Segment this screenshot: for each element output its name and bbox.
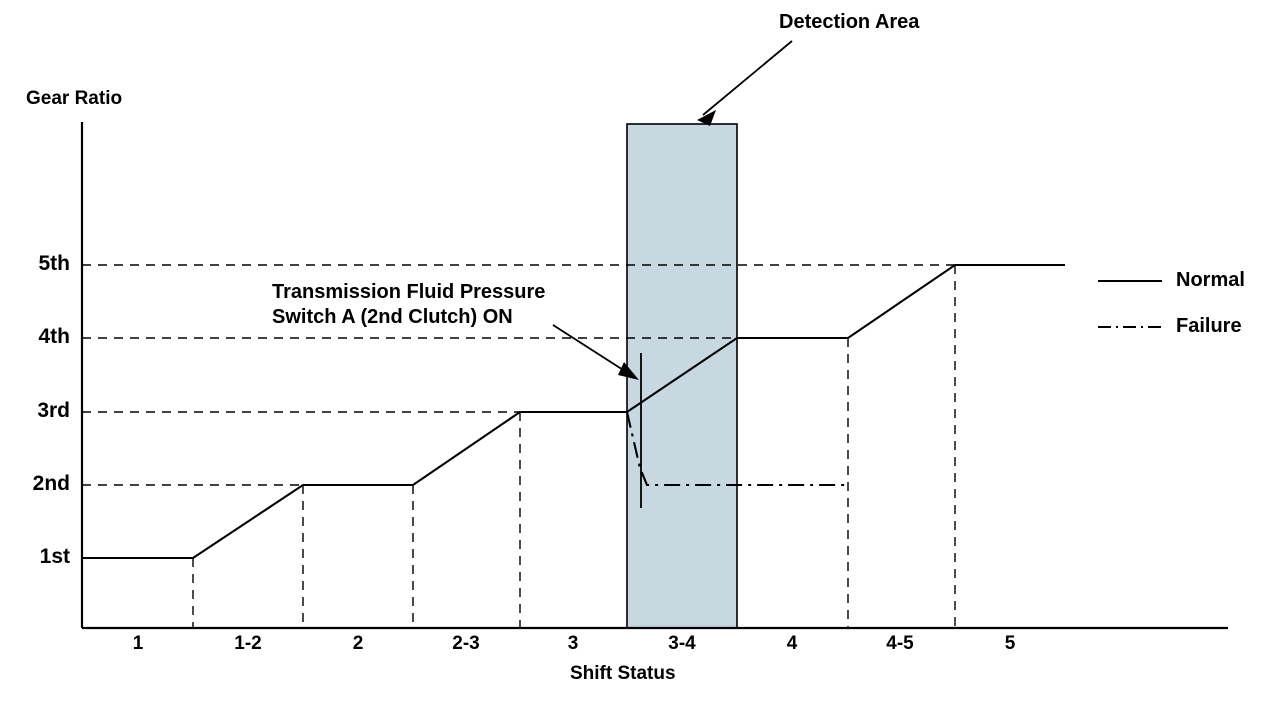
- pressure-switch-arrow: [553, 325, 639, 380]
- y-tick-4th: 4th: [0, 325, 70, 349]
- y-tick-2nd: 2nd: [0, 472, 70, 496]
- chart-canvas: [0, 0, 1272, 706]
- x-tick-1: 1: [98, 633, 178, 655]
- pressure-switch-label-line2: Switch A (2nd Clutch) ON: [272, 305, 513, 330]
- x-tick-3-4: 3-4: [642, 633, 722, 655]
- x-tick-3: 3: [533, 633, 613, 655]
- detection-area-label: Detection Area: [779, 10, 919, 35]
- y-axis-title: Gear Ratio: [26, 88, 122, 110]
- y-tick-5th: 5th: [0, 252, 70, 276]
- x-tick-1-2: 1-2: [208, 633, 288, 655]
- y-tick-3rd: 3rd: [0, 399, 70, 423]
- detection-area-arrow: [697, 41, 792, 126]
- x-tick-4-5: 4-5: [860, 633, 940, 655]
- gear-ratio-shift-diagram: Gear Ratio 1st 2nd 3rd 4th 5th 1 1-2 2 2…: [0, 0, 1272, 706]
- legend-label-normal: Normal: [1176, 269, 1245, 292]
- legend-label-failure: Failure: [1176, 315, 1242, 338]
- x-tick-5: 5: [970, 633, 1050, 655]
- horizontal-gridlines: [82, 265, 1065, 485]
- y-tick-1st: 1st: [0, 545, 70, 569]
- x-tick-4: 4: [752, 633, 832, 655]
- x-tick-2-3: 2-3: [426, 633, 506, 655]
- x-axis-title: Shift Status: [570, 663, 676, 685]
- pressure-switch-label-line1: Transmission Fluid Pressure: [272, 280, 545, 305]
- x-tick-2: 2: [318, 633, 398, 655]
